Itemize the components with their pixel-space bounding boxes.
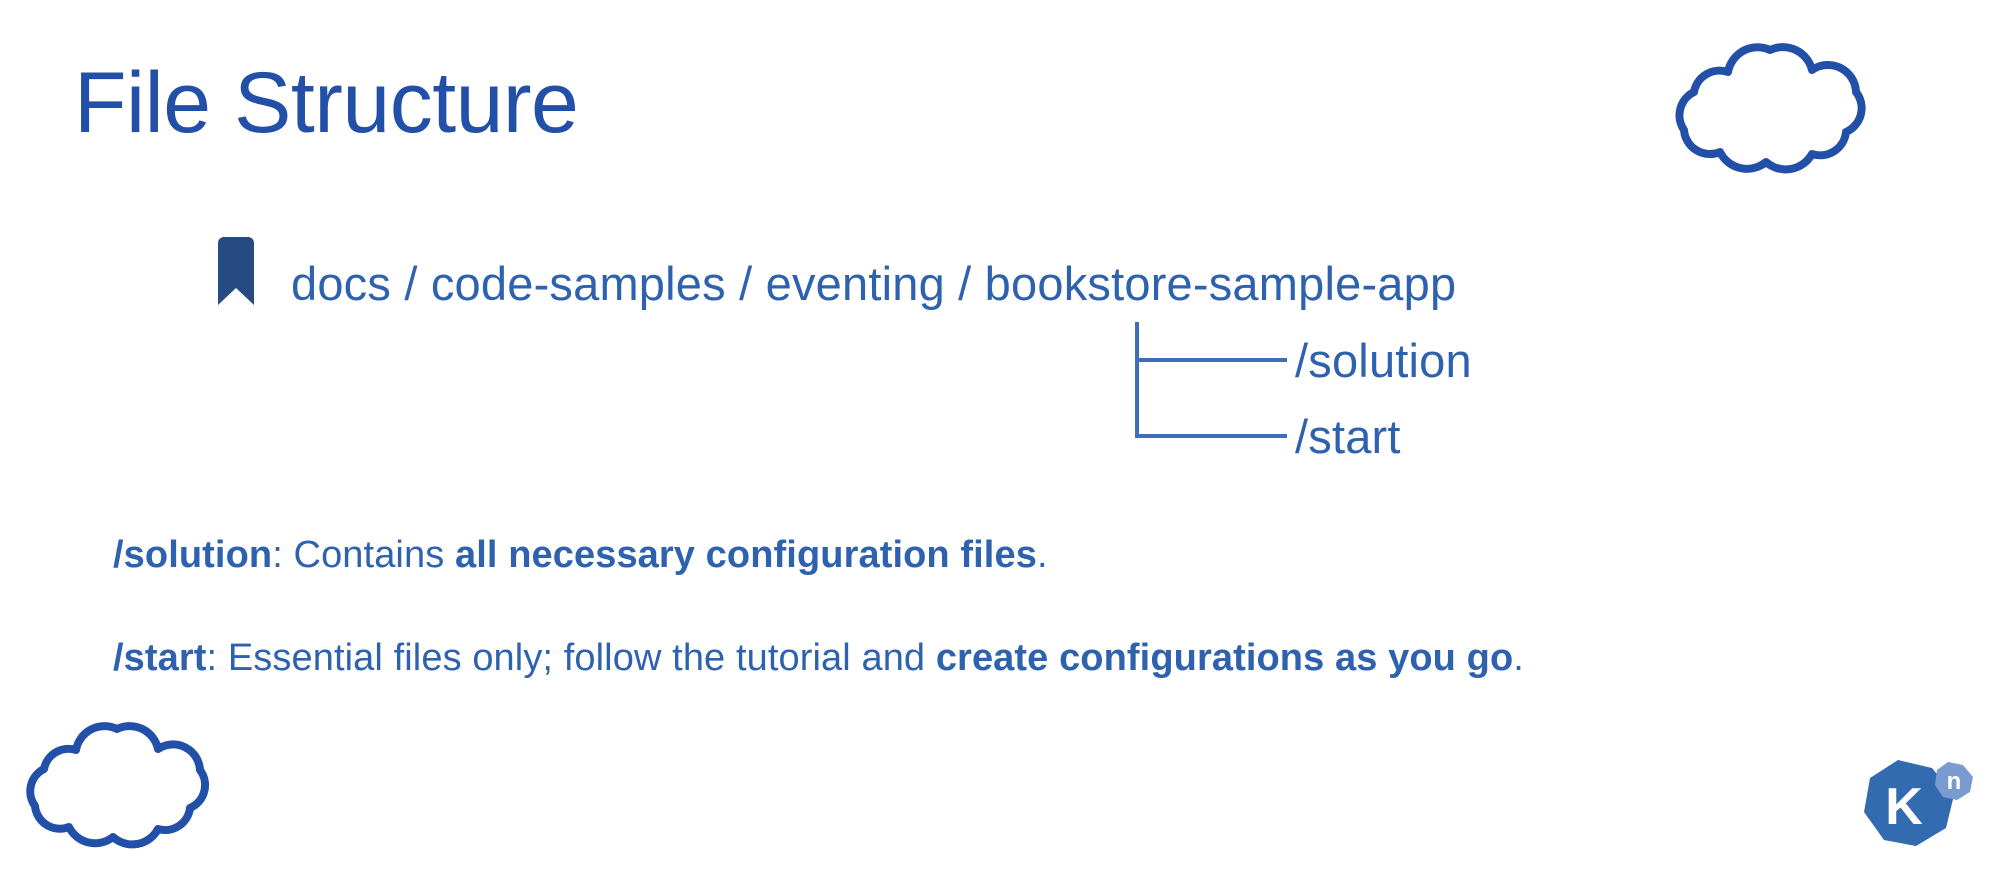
page-title: File Structure: [74, 58, 578, 148]
cloud-decoration-top-right: [1660, 28, 1880, 178]
body-text-strong: create configurations as you go: [936, 637, 1513, 679]
body-text-plain: : Contains: [272, 534, 455, 576]
bookmark-icon: [215, 236, 257, 308]
body-text-plain: .: [1037, 534, 1048, 576]
slide-canvas: File Structure docs / code-samples / eve…: [0, 0, 1999, 877]
tree-connector-tee-icon: [1135, 322, 1287, 398]
breadcrumb: docs / code-samples / eventing / booksto…: [291, 260, 1456, 307]
cloud-decoration-bottom-left: [12, 708, 222, 853]
tree-row-label: /solution: [1295, 337, 1472, 384]
knative-logo-letter: K: [1885, 778, 1923, 836]
body-text-plain: : Essential files only; follow the tutor…: [207, 637, 936, 679]
body-text-strong: /solution: [113, 534, 272, 576]
knative-logo: K n: [1848, 752, 1980, 862]
knative-logo-badge-letter: n: [1947, 768, 1962, 795]
body-text-strong: /start: [113, 637, 207, 679]
body-text-strong: all necessary configuration files: [455, 534, 1037, 576]
tree-row-label: /start: [1295, 413, 1401, 460]
file-path-block: docs / code-samples / eventing / booksto…: [215, 228, 1456, 304]
tree-connector-elbow-icon: [1135, 398, 1287, 474]
body-paragraph: /solution: Contains all necessary config…: [113, 536, 1048, 574]
breadcrumb-row: docs / code-samples / eventing / booksto…: [215, 228, 1456, 304]
tree-row: /start: [1135, 398, 1401, 474]
tree-row: /solution: [1135, 322, 1472, 398]
body-paragraph: /start: Essential files only; follow the…: [113, 639, 1524, 677]
body-text-plain: .: [1513, 637, 1524, 679]
